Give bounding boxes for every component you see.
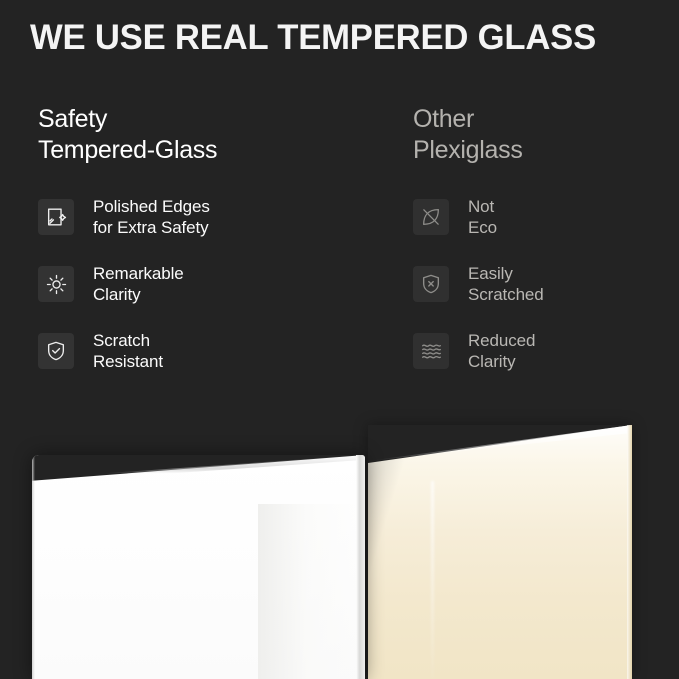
shield-x-icon bbox=[413, 266, 449, 302]
feature-row: Polished Edges for Extra Safety bbox=[38, 194, 368, 240]
glass-left-edge bbox=[32, 455, 35, 679]
waves-icon bbox=[413, 333, 449, 369]
feature-list-plexiglass: Not Eco Easily Scratched bbox=[413, 194, 679, 374]
shield-check-icon bbox=[38, 333, 74, 369]
feature-row: Remarkable Clarity bbox=[38, 261, 368, 307]
feature-row: Not Eco bbox=[413, 194, 679, 240]
feature-row: Reduced Clarity bbox=[413, 328, 679, 374]
feature-label: Scratch Resistant bbox=[93, 330, 163, 372]
sun-clarity-icon bbox=[38, 266, 74, 302]
feature-label: Polished Edges for Extra Safety bbox=[93, 196, 210, 238]
column-tempered-glass: Safety Tempered-Glass Polished Edges for… bbox=[38, 104, 368, 395]
column-plexiglass: Other Plexiglass Not Eco bbox=[413, 104, 679, 395]
plexi-right-edge bbox=[627, 425, 632, 679]
feature-row: Scratch Resistant bbox=[38, 328, 368, 374]
plexi-sheen bbox=[431, 481, 434, 679]
feature-label: Remarkable Clarity bbox=[93, 263, 184, 305]
feature-label: Reduced Clarity bbox=[468, 330, 535, 372]
comparison-columns: Safety Tempered-Glass Polished Edges for… bbox=[0, 104, 679, 404]
feature-label: Not Eco bbox=[468, 196, 497, 238]
leaf-crossed-icon bbox=[413, 199, 449, 235]
column-heading-tempered-glass: Safety Tempered-Glass bbox=[38, 104, 368, 166]
page-title: WE USE REAL TEMPERED GLASS bbox=[30, 19, 649, 58]
feature-label: Easily Scratched bbox=[468, 263, 544, 305]
product-panels bbox=[0, 395, 679, 679]
polished-edge-icon bbox=[38, 199, 74, 235]
column-heading-plexiglass: Other Plexiglass bbox=[413, 104, 679, 166]
glass-right-edge bbox=[356, 455, 365, 679]
feature-list-tempered-glass: Polished Edges for Extra Safety Remarkab… bbox=[38, 194, 368, 374]
feature-row: Easily Scratched bbox=[413, 261, 679, 307]
plexiglass-panel bbox=[368, 425, 632, 679]
glass-reflection bbox=[258, 504, 365, 679]
tempered-glass-panel bbox=[32, 455, 365, 679]
